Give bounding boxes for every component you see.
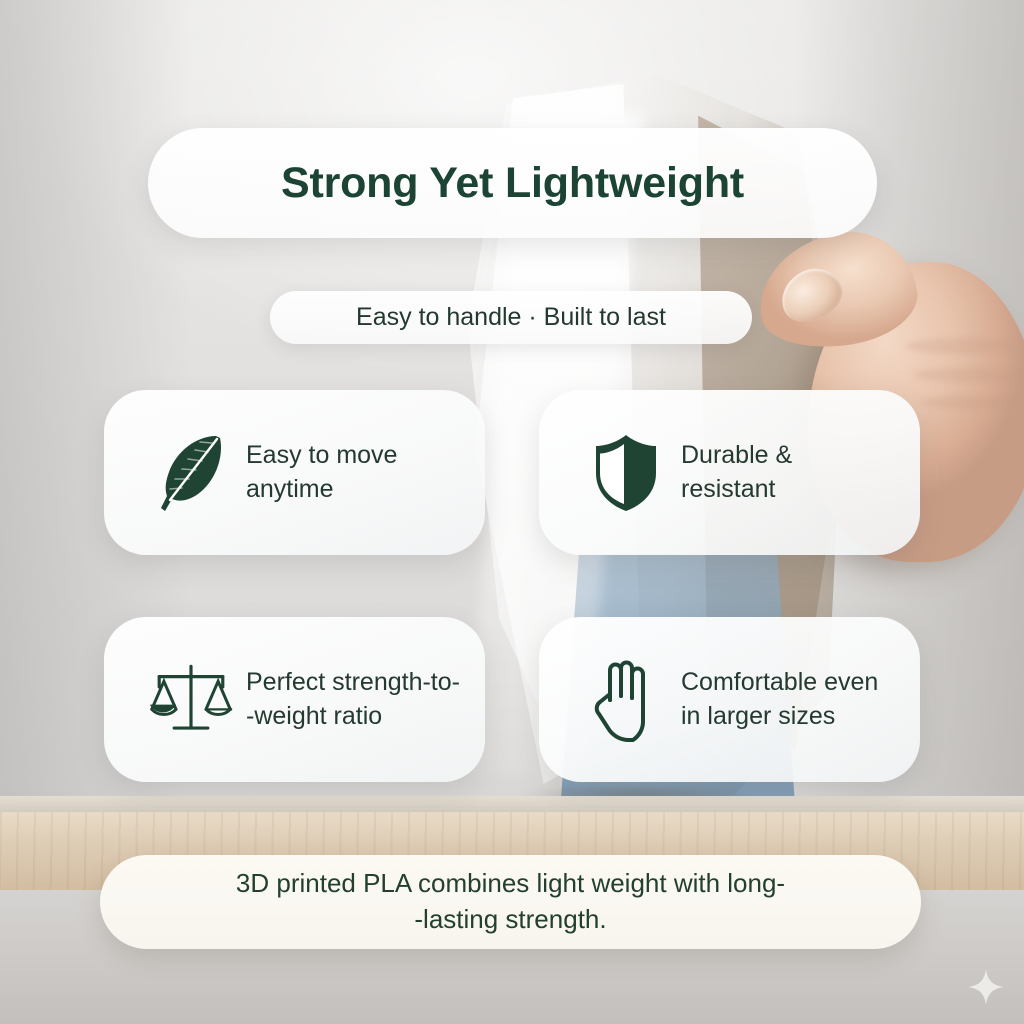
page-subtitle: Easy to handle · Built to last xyxy=(356,303,666,332)
feature-card-strength-to-weight[interactable]: Perfect strength-to- -weight ratio xyxy=(104,617,485,782)
infographic-canvas: Strong Yet Lightweight Easy to handle · … xyxy=(0,0,1024,1024)
feature-card-easy-to-move[interactable]: Easy to move anytime xyxy=(104,390,485,555)
open-hand-icon xyxy=(583,654,669,746)
title-pill: Strong Yet Lightweight xyxy=(148,128,877,238)
feather-icon xyxy=(148,427,234,519)
footer-pill: 3D printed PLA combines light weight wit… xyxy=(100,855,921,949)
balance-scale-icon xyxy=(148,654,234,746)
feature-label: Easy to move anytime xyxy=(246,439,397,507)
footer-caption: 3D printed PLA combines light weight wit… xyxy=(236,866,785,938)
feature-card-durable[interactable]: Durable & resistant xyxy=(539,390,920,555)
feature-label: Durable & resistant xyxy=(681,439,792,507)
overlay-layer: Strong Yet Lightweight Easy to handle · … xyxy=(0,0,1024,1024)
feature-label: Comfortable even in larger sizes xyxy=(681,666,878,734)
feature-card-comfortable[interactable]: Comfortable even in larger sizes xyxy=(539,617,920,782)
feature-label: Perfect strength-to- -weight ratio xyxy=(246,666,485,734)
subtitle-pill: Easy to handle · Built to last xyxy=(270,291,752,344)
sparkle-icon xyxy=(966,967,1006,1007)
shield-icon xyxy=(583,427,669,519)
page-title: Strong Yet Lightweight xyxy=(281,159,744,208)
